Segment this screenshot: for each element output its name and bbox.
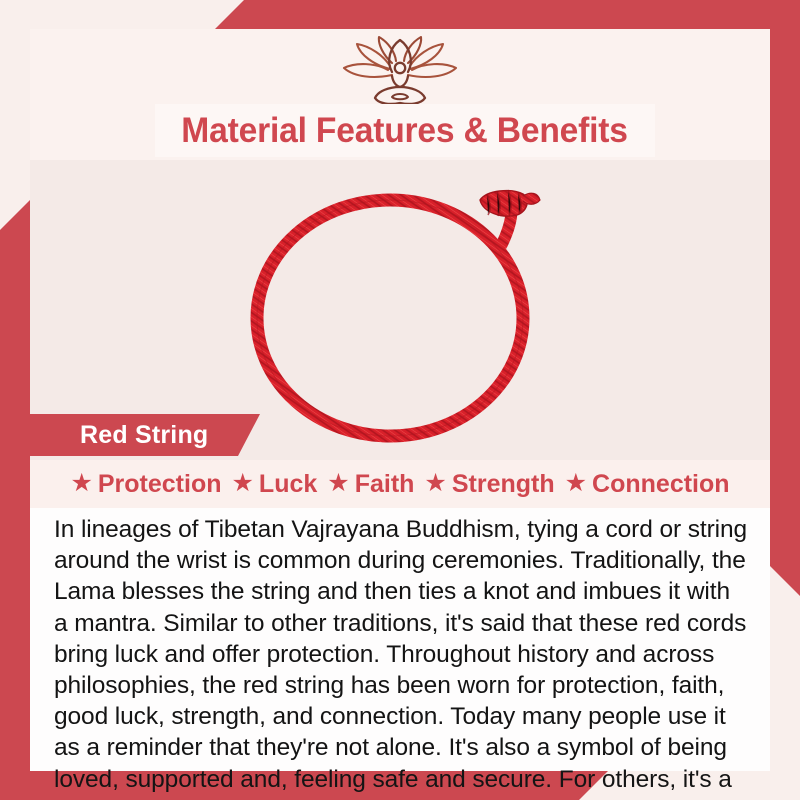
top-red-border-decoration: [215, 0, 800, 29]
product-label-banner: Red String: [30, 414, 260, 456]
description-text: In lineages of Tibetan Vajrayana Buddhis…: [54, 514, 748, 800]
star-icon: ★: [327, 471, 349, 496]
infographic-page: BUDDHA STONES: [0, 0, 800, 800]
right-red-border-decoration: [770, 29, 800, 596]
product-label: Red String: [30, 421, 208, 450]
left-red-border-decoration: [0, 200, 30, 771]
benefit-label: Protection: [98, 470, 222, 499]
benefit-item: ★ Luck: [232, 470, 318, 499]
star-icon: ★: [424, 471, 446, 496]
page-title-banner: Material Features & Benefits: [155, 104, 655, 157]
star-icon: ★: [565, 471, 587, 496]
lotus-meditation-figure-icon: [330, 35, 470, 107]
benefit-label: Luck: [259, 470, 317, 499]
description-panel: In lineages of Tibetan Vajrayana Buddhis…: [30, 508, 770, 771]
benefit-label: Connection: [592, 470, 730, 499]
benefit-item: ★ Protection: [70, 470, 221, 499]
star-icon: ★: [70, 471, 92, 496]
benefit-label: Strength: [452, 470, 555, 499]
benefit-item: ★ Connection: [565, 470, 730, 499]
benefit-item: ★ Faith: [327, 470, 414, 499]
benefits-list: ★ Protection ★ Luck ★ Faith ★ Strength ★…: [30, 460, 770, 508]
star-icon: ★: [232, 471, 254, 496]
page-title: Material Features & Benefits: [182, 111, 629, 151]
benefit-label: Faith: [355, 470, 415, 499]
benefit-item: ★ Strength: [424, 470, 554, 499]
